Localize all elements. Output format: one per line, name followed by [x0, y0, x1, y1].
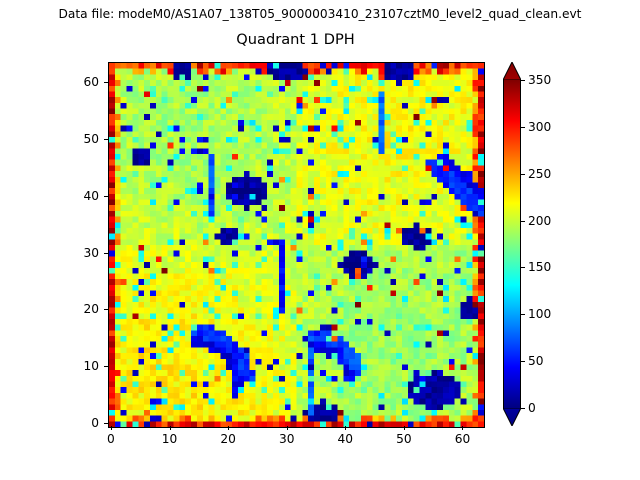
- colorbar-tick-label: 100: [528, 307, 551, 321]
- x-axis-tick: [228, 426, 229, 430]
- colorbar-tick: [521, 267, 525, 268]
- colorbar-tick-label: 300: [528, 120, 551, 134]
- x-axis-tick-label: 0: [107, 432, 115, 446]
- colorbar-tick-label: 350: [528, 73, 551, 87]
- heatmap-image: [109, 63, 484, 427]
- x-axis-tick-label: 60: [455, 432, 471, 446]
- colorbar-tick-label: 200: [528, 214, 551, 228]
- y-axis-tick-label: 60: [83, 75, 99, 89]
- y-axis-tick: [104, 423, 108, 424]
- colorbar-tick-label: 150: [528, 260, 551, 274]
- y-axis-tick-label: 30: [83, 246, 99, 260]
- colorbar-tick-label: 0: [528, 401, 536, 415]
- x-axis-tick-label: 10: [162, 432, 178, 446]
- matplotlib-figure: Data file: modeM0/AS1A07_138T05_90000034…: [0, 0, 640, 480]
- x-axis-tick: [404, 426, 405, 430]
- x-axis-tick-label: 30: [279, 432, 295, 446]
- x-axis-tick-label: 40: [338, 432, 354, 446]
- colorbar-gradient: [504, 80, 520, 408]
- heatmap-axes: [108, 62, 485, 428]
- x-axis-tick-label: 20: [220, 432, 236, 446]
- y-axis-tick-label: 20: [83, 302, 99, 316]
- colorbar-tick: [521, 361, 525, 362]
- colorbar-extend-bottom-arrow: [503, 408, 521, 426]
- colorbar-tick: [521, 314, 525, 315]
- colorbar-extend-top-arrow: [503, 62, 521, 80]
- colorbar-tick: [521, 80, 525, 81]
- colorbar: 050100150200250300350: [503, 62, 521, 426]
- y-axis-tick: [104, 366, 108, 367]
- y-axis-tick-label: 10: [83, 359, 99, 373]
- y-axis-tick: [104, 139, 108, 140]
- x-axis-tick: [287, 426, 288, 430]
- x-axis-tick: [111, 426, 112, 430]
- colorbar-tick-label: 50: [528, 354, 544, 368]
- figure-suptitle: Data file: modeM0/AS1A07_138T05_90000034…: [0, 7, 640, 21]
- colorbar-tick: [521, 127, 525, 128]
- colorbar-tick: [521, 174, 525, 175]
- x-axis-tick: [170, 426, 171, 430]
- y-axis-tick: [104, 82, 108, 83]
- x-axis-tick: [345, 426, 346, 430]
- y-axis-tick-label: 0: [91, 416, 99, 430]
- colorbar-tick-label: 250: [528, 167, 551, 181]
- y-axis-tick: [104, 309, 108, 310]
- colorbar-tick: [521, 408, 525, 409]
- y-axis-tick-label: 50: [83, 132, 99, 146]
- axes-title: Quadrant 1 DPH: [108, 31, 483, 48]
- y-axis-tick: [104, 253, 108, 254]
- x-axis-tick-label: 50: [396, 432, 412, 446]
- x-axis-tick: [462, 426, 463, 430]
- y-axis-tick: [104, 196, 108, 197]
- colorbar-tick: [521, 221, 525, 222]
- colorbar-gradient-body: [503, 80, 521, 408]
- y-axis-tick-label: 40: [83, 189, 99, 203]
